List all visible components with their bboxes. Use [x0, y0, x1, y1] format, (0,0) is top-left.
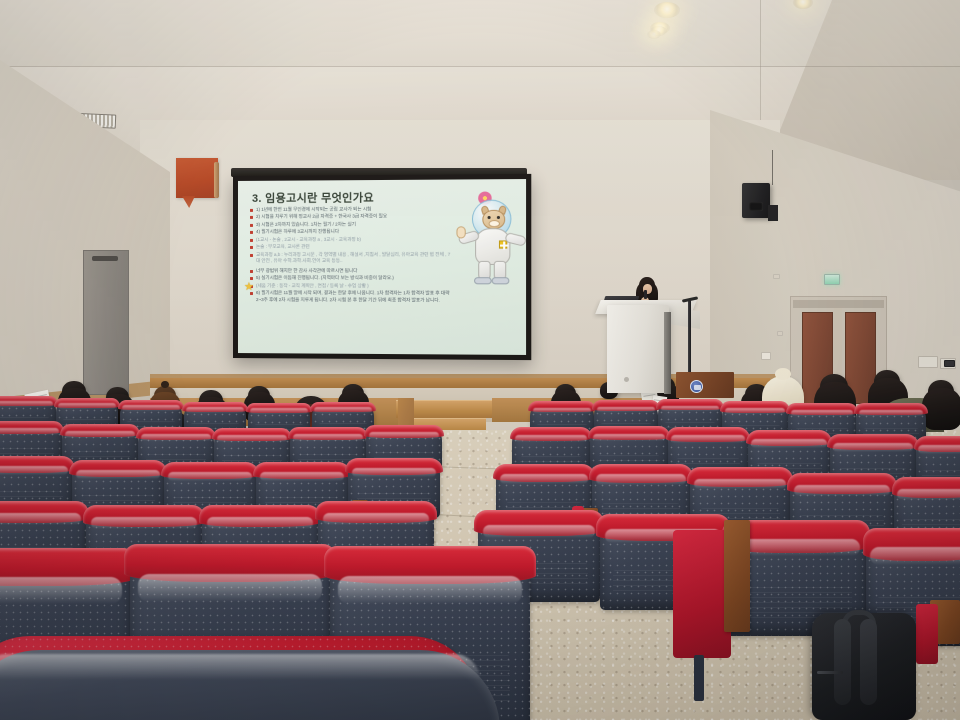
ceiling-seam: [0, 66, 960, 67]
slide-bullet: 2) 시험을 치루기 위해 정교사 2급 자격증 + 한국사 3급 자격증이 필…: [250, 214, 451, 221]
speaker-bracket: [768, 205, 778, 221]
slide-bullet: 교육과정 a,b : 누리과정 고시문 , 각 영역별 내용 , 해설서 ,지침…: [250, 252, 451, 264]
bullet-square-icon: [250, 270, 253, 273]
projection-screen: 3. 임용고시란 무엇인가요 1) 1년에 한번 11월 무인경에 시작되는 공…: [233, 174, 531, 360]
mascot-illustration: [460, 189, 522, 287]
audience-hair: [922, 388, 960, 430]
wall-marker: [773, 274, 780, 279]
armrest: [916, 604, 938, 664]
bullet-square-icon: [250, 246, 253, 249]
star-icon: ★: [244, 282, 255, 293]
slide-bullet: 논술 : 부모교육, 교사론 관련: [250, 244, 451, 251]
lectern: [676, 372, 734, 398]
university-emblem-icon: [690, 380, 703, 393]
door-closer-icon: [92, 256, 118, 261]
slide-bullet: 5) 실기시험은 이듬해 진행됩니다. (지역마다 보는 방식과 비중이 달라요…: [250, 275, 451, 282]
ceiling-downlight: [647, 30, 661, 39]
thumbs-up-icon: [456, 226, 465, 238]
backpack-strap: [834, 619, 851, 705]
wall-panel-display: [944, 360, 955, 367]
bullet-square-icon: [250, 224, 253, 227]
mascot-eye: [488, 216, 491, 219]
mascot-eye: [497, 216, 500, 219]
slide-bullet: (세움 기준 : 동작 - 교직 계획안 , 면접 / 등록 날 - 수업 상황…: [250, 283, 451, 290]
slide-bullet: 4) 필기시험은 하루에 3교시까지 진행됩니다: [250, 229, 451, 236]
wall-outlet[interactable]: [761, 352, 771, 360]
slide-bullet: (1교시 - 논술 , 2교시 - 교육과정 a , 3교시 - 교육과정 b): [250, 236, 451, 243]
microphone-stand: [688, 300, 691, 374]
ceiling-downlight: [654, 2, 680, 18]
wall-switch-plate[interactable]: [918, 356, 938, 368]
bullet-square-icon: [250, 216, 253, 219]
podium-control-button[interactable]: [624, 377, 629, 382]
bullet-square-icon: [250, 277, 253, 280]
seat-highlight: [0, 654, 480, 680]
bullet-square-icon: [250, 239, 253, 242]
exit-sign-icon: [824, 274, 840, 285]
speaker-cable: [772, 150, 773, 185]
mascot-muzzle: [489, 220, 500, 227]
seat-leg: [694, 655, 704, 701]
bullet-square-icon: [250, 209, 253, 212]
bullet-square-icon: [250, 231, 253, 234]
lecture-hall-photo: 3. 임용고시란 무엇인가요 1) 1년에 한번 11월 무인경에 시작되는 공…: [0, 0, 960, 720]
slide-bullet-list: 1) 1년에 한번 11월 무인경에 시작되는 공립 교사가 되는 시험 2) …: [250, 206, 451, 305]
backpack[interactable]: [812, 613, 916, 720]
slide-bullet: 너무 광범위 해지만 한 감사 사각관에 따르시면 됩니다: [250, 268, 451, 274]
tablet-arm[interactable]: [724, 520, 750, 632]
slide-surface: 3. 임용고시란 무엇인가요 1) 1년에 한번 11월 무인경에 시작되는 공…: [238, 179, 526, 355]
banner-rod: [214, 162, 219, 198]
slide-bullet: 1) 1년에 한번 11월 무인경에 시작되는 공립 교사가 되는 시험: [250, 206, 451, 213]
mascot-foot: [492, 277, 510, 284]
bullet-square-icon: [250, 254, 253, 257]
podium: [607, 305, 669, 393]
orange-wall-banner: [176, 158, 218, 198]
microphone-icon: [644, 290, 647, 299]
backpack-strap: [860, 619, 877, 705]
wall-marker: [777, 331, 783, 336]
door-header: [793, 300, 884, 308]
slide-bullet: 6) 필기시험은 11월 말에 시작 되며, 결과는 한달 후에 나옵니다. 1…: [250, 290, 451, 303]
wall-speaker-icon: [742, 183, 770, 218]
backpack-zipper: [817, 671, 843, 674]
podium-edge: [664, 312, 671, 394]
slide-title: 3. 임용고시란 무엇인가요: [252, 189, 374, 206]
mascot-foot: [474, 277, 492, 284]
side-door-left[interactable]: [83, 250, 129, 395]
slide-bullet: 3) 시험은 2차까지 있습니다. 1차는 필기 / 2차는 실기: [250, 221, 451, 228]
armrest-panel: [673, 530, 731, 658]
